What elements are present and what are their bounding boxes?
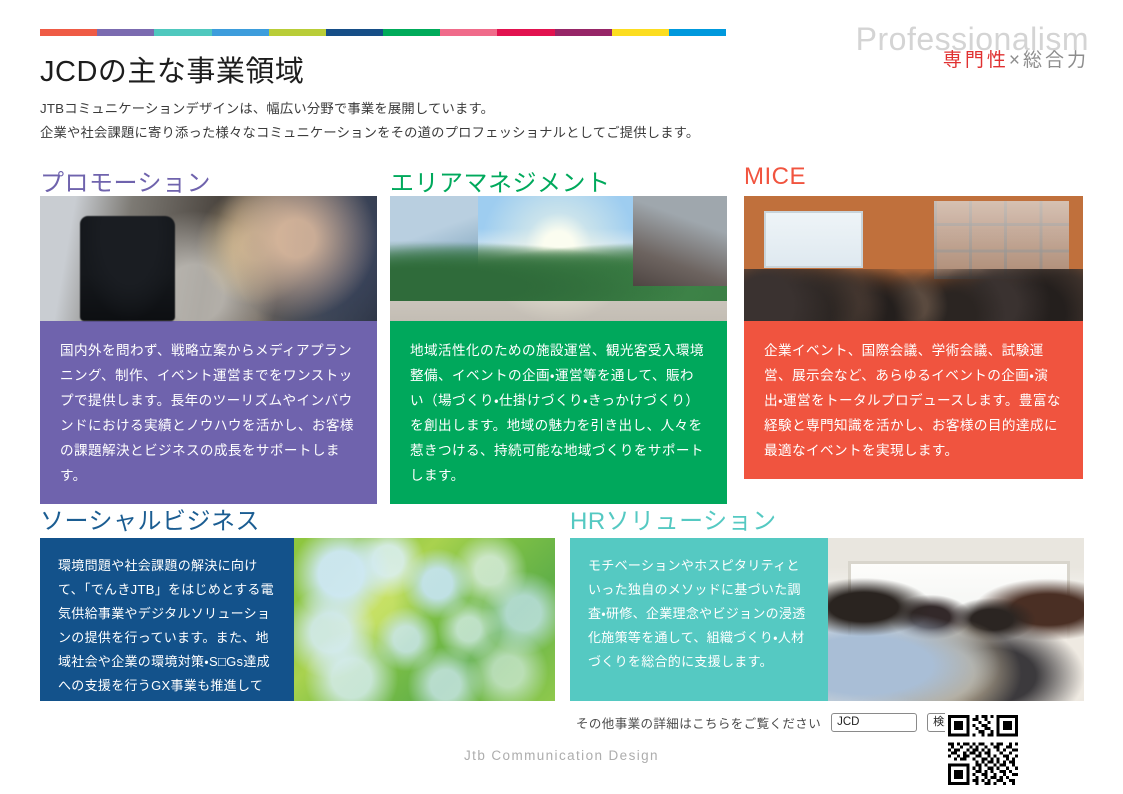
intro-line-2: 企業や社会課題に寄り添った様々なコミュニケーションをその道のプロフェッショナルと… (40, 121, 760, 145)
slide-root: JCDの主な事業領域 JTBコミュニケーションデザインは、幅広い分野で事業を展開… (0, 0, 1123, 794)
intro-paragraph: JTBコミュニケーションデザインは、幅広い分野で事業を展開しています。 企業や社… (40, 97, 760, 145)
color-bar-segment-9 (555, 29, 612, 36)
brand-mark: Professionalism 専門性×総合力 (856, 22, 1089, 72)
green-bokeh-foliage-photo (294, 538, 555, 701)
section-heading-promotion: プロモーション (40, 163, 211, 198)
card-hr-solution-body: モチベーションやホスピタリティといった独自のメソッドに基づいた調査・研修、企業理… (570, 538, 828, 701)
color-bar-segment-0 (40, 29, 97, 36)
qr-code[interactable] (945, 712, 1021, 788)
card-promotion-text: 国内外を問わず、戦略立案からメディアプランニング、制作、イベント運営までをワンス… (60, 338, 357, 488)
intro-line-1: JTBコミュニケーションデザインは、幅広い分野で事業を展開しています。 (40, 97, 760, 121)
color-bar-segment-10 (612, 29, 669, 36)
press-conference-camera-photo (40, 196, 377, 321)
footer-search-area: その他事業の詳細はこちらをご覧ください 検索 (576, 713, 961, 732)
card-promotion-body: 国内外を問わず、戦略立案からメディアプランニング、制作、イベント運営までをワンス… (40, 321, 377, 504)
color-bar-segment-3 (212, 29, 269, 36)
business-meeting-photo (828, 538, 1084, 701)
footer-search-label: その他事業の詳細はこちらをご覧ください (576, 713, 821, 732)
color-bar-segment-8 (497, 29, 554, 36)
color-bar-segment-11 (669, 29, 726, 36)
card-area-management-body: 地域活性化のための施設運営、観光客受入環境整備、イベントの企画・運営等を通して、… (390, 321, 727, 504)
conference-hall-photo (744, 196, 1083, 321)
card-hr-solution[interactable]: モチベーションやホスピタリティといった独自のメソッドに基づいた調査・研修、企業理… (570, 538, 1084, 701)
brand-mark-jp-grey: ×総合力 (1009, 50, 1089, 71)
color-bar-segment-4 (269, 29, 326, 36)
card-hr-solution-text: モチベーションやホスピタリティといった独自のメソッドに基づいた調査・研修、企業理… (588, 554, 810, 674)
card-social-business-body: 環境問題や社会課題の解決に向けて、「でんきJTB」をはじめとする電気供給事業やデ… (40, 538, 294, 701)
card-area-management[interactable]: 地域活性化のための施設運営、観光客受入環境整備、イベントの企画・運営等を通して、… (390, 196, 727, 504)
color-bar-segment-6 (383, 29, 440, 36)
color-bar-segment-1 (97, 29, 154, 36)
brand-mark-jp-red: 専門性 (943, 50, 1009, 71)
page-title: JCDの主な事業領域 (40, 48, 304, 90)
card-mice-text: 企業イベント、国際会議、学術会議、試験運営、展示会など、あらゆるイベントの企画・… (764, 338, 1063, 463)
card-mice[interactable]: 企業イベント、国際会議、学術会議、試験運営、展示会など、あらゆるイベントの企画・… (744, 196, 1083, 479)
search-input[interactable] (831, 713, 917, 732)
section-heading-area-management: エリアマネジメント (390, 163, 611, 198)
card-social-business-text: 環境問題や社会課題の解決に向けて、「でんきJTB」をはじめとする電気供給事業やデ… (58, 554, 276, 701)
card-promotion[interactable]: 国内外を問わず、戦略立案からメディアプランニング、制作、イベント運営までをワンス… (40, 196, 377, 504)
brand-color-bar (40, 29, 726, 36)
section-heading-hr-solution: HRソリューション (570, 501, 777, 536)
card-mice-body: 企業イベント、国際会議、学術会議、試験運営、展示会など、あらゆるイベントの企画・… (744, 321, 1083, 479)
card-area-management-text: 地域活性化のための施設運営、観光客受入環境整備、イベントの企画・運営等を通して、… (410, 338, 707, 488)
card-social-business[interactable]: 環境問題や社会課題の解決に向けて、「でんきJTB」をはじめとする電気供給事業やデ… (40, 538, 555, 701)
color-bar-segment-7 (440, 29, 497, 36)
section-heading-mice: MICE (744, 163, 806, 191)
color-bar-segment-2 (154, 29, 211, 36)
color-bar-segment-5 (326, 29, 383, 36)
section-heading-social-business: ソーシャルビジネス (40, 501, 260, 536)
urban-boulevard-photo (390, 196, 727, 321)
